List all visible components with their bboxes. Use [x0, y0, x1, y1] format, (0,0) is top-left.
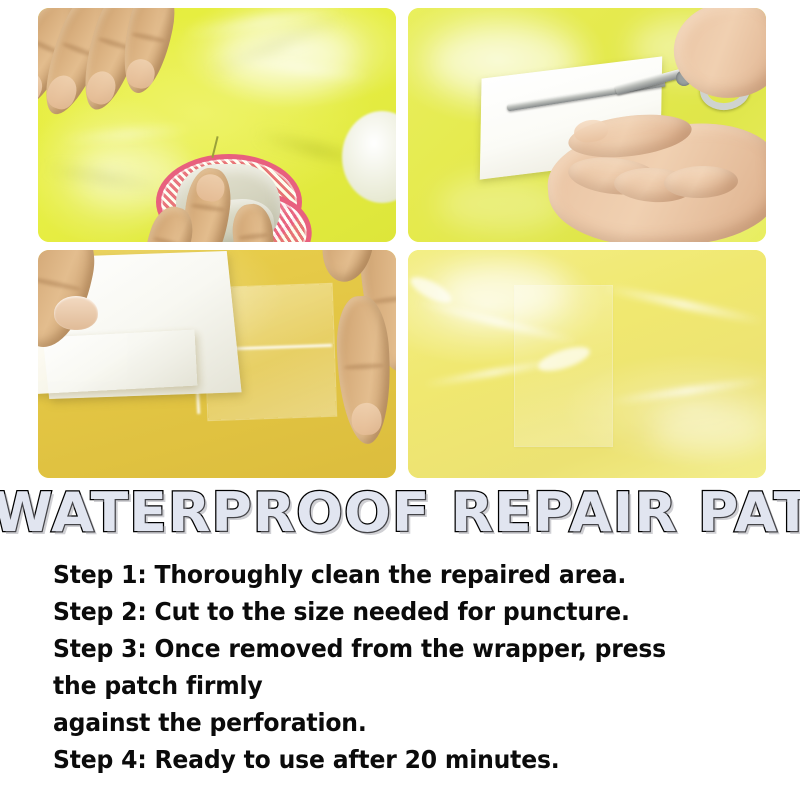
page-title: WATERPROOF REPAIR PATCH	[0, 483, 800, 543]
photo-step-peel	[38, 250, 396, 478]
step-line-3: Step 3: Once removed from the wrapper, p…	[53, 630, 711, 704]
photo-step-done	[408, 250, 766, 478]
photo-grid	[38, 8, 766, 478]
step-line-3-cont: against the perforation.	[53, 704, 711, 741]
photo-step-clean	[38, 8, 396, 242]
thumbnail	[54, 296, 98, 330]
photo-step-cut	[408, 8, 766, 242]
steps-list: Step 1: Thoroughly clean the repaired ar…	[53, 556, 711, 778]
step-line-4: Step 4: Ready to use after 20 minutes.	[53, 741, 711, 778]
step-line-2: Step 2: Cut to the size needed for punct…	[53, 593, 711, 630]
step-line-1: Step 1: Thoroughly clean the repaired ar…	[53, 556, 711, 593]
product-instruction-page: WATERPROOF REPAIR PATCH Step 1: Thorough…	[0, 0, 800, 800]
